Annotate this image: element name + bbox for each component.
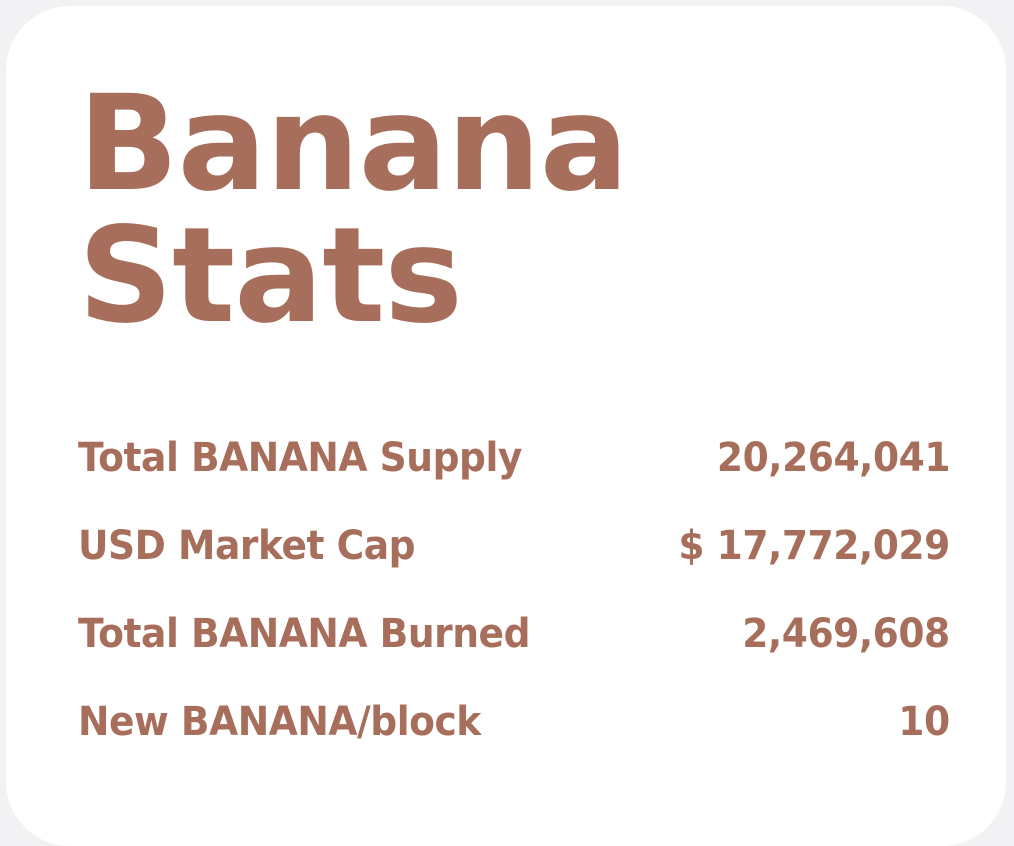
stat-row-new-banana-per-block: New BANANA/block 10 xyxy=(78,694,950,782)
stat-value: 10 xyxy=(899,694,950,750)
stat-label: Total BANANA Supply xyxy=(78,430,522,486)
stat-value: $ 17,772,029 xyxy=(679,518,950,574)
stat-label: Total BANANA Burned xyxy=(78,606,530,662)
page-title: Banana Stats xyxy=(78,78,638,342)
stat-row-total-banana-burned: Total BANANA Burned 2,469,608 xyxy=(78,606,950,694)
stat-label: USD Market Cap xyxy=(78,518,415,574)
stat-row-usd-market-cap: USD Market Cap $ 17,772,029 xyxy=(78,518,950,606)
stat-label: New BANANA/block xyxy=(78,694,481,750)
stats-list: Total BANANA Supply 20,264,041 USD Marke… xyxy=(78,430,950,782)
stat-value: 20,264,041 xyxy=(717,430,950,486)
stat-row-total-banana-supply: Total BANANA Supply 20,264,041 xyxy=(78,430,950,518)
stats-card: Banana Stats Total BANANA Supply 20,264,… xyxy=(6,6,1006,846)
stat-value: 2,469,608 xyxy=(743,606,950,662)
